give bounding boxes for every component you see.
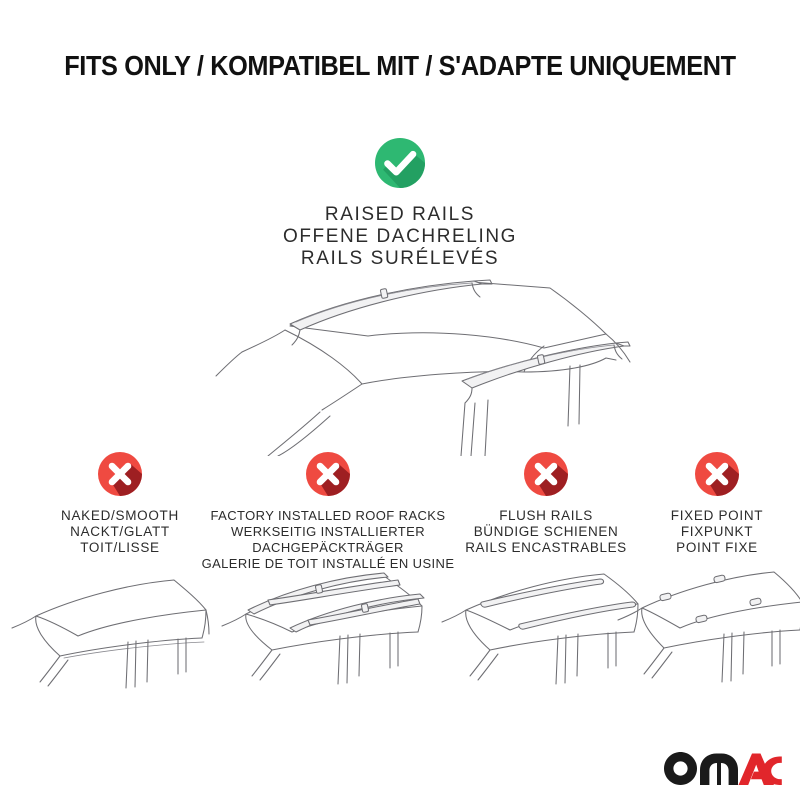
x-circle-icon <box>306 452 350 496</box>
omac-logo: OMAC <box>664 752 782 786</box>
incompatible-label-en: FLUSH RAILS <box>442 508 650 524</box>
incompatible-item-flush-rails: FLUSH RAILS BÜNDIGE SCHIENEN RAILS ENCAS… <box>442 452 650 556</box>
compatible-label-de: OFFENE DACHRELING <box>0 226 800 248</box>
car-roof-flush-rails-illustration <box>434 560 644 688</box>
compatible-label-fr: RAILS SURÉLEVÉS <box>0 248 800 270</box>
incompatible-label-de: FIXPUNKT <box>634 524 800 540</box>
incompatible-item-factory-rack: FACTORY INSTALLED ROOF RACKS WERKSEITIG … <box>196 452 460 572</box>
check-circle-icon <box>375 138 425 188</box>
page-title-text: FITS ONLY / KOMPATIBEL MIT / S'ADAPTE UN… <box>64 52 735 80</box>
incompatible-label-de-2: DACHGEPÄCKTRÄGER <box>196 540 460 556</box>
incompatible-section: NAKED/SMOOTH NACKT/GLATT TOIT/LISSE FACT… <box>0 452 800 692</box>
incompatible-label-en: FIXED POINT <box>634 508 800 524</box>
compatible-label-en: RAISED RAILS <box>0 204 800 226</box>
incompatible-label-en: FACTORY INSTALLED ROOF RACKS <box>196 508 460 524</box>
car-roof-naked-smooth-illustration <box>6 570 211 695</box>
incompatible-label-fr: RAILS ENCASTRABLES <box>442 540 650 556</box>
x-circle-icon <box>98 452 142 496</box>
incompatible-label-fr: GALERIE DE TOIT INSTALLÉ EN USINE <box>196 556 460 572</box>
incompatible-label-de-1: WERKSEITIG INSTALLIERTER <box>196 524 460 540</box>
incompatible-label-de: BÜNDIGE SCHIENEN <box>442 524 650 540</box>
incompatible-label-fr: POINT FIXE <box>634 540 800 556</box>
car-roof-fixed-point-illustration <box>614 558 800 686</box>
car-roof-raised-rails-illustration <box>172 276 632 456</box>
x-circle-icon <box>524 452 568 496</box>
compatible-labels: RAISED RAILS OFFENE DACHRELING RAILS SUR… <box>0 204 800 270</box>
car-roof-factory-rack-illustration <box>212 552 442 692</box>
page-title: FITS ONLY / KOMPATIBEL MIT / S'ADAPTE UN… <box>0 52 800 80</box>
x-circle-icon <box>695 452 739 496</box>
incompatible-item-fixed-point: FIXED POINT FIXPUNKT POINT FIXE <box>634 452 800 556</box>
compatible-section: RAISED RAILS OFFENE DACHRELING RAILS SUR… <box>0 138 800 270</box>
